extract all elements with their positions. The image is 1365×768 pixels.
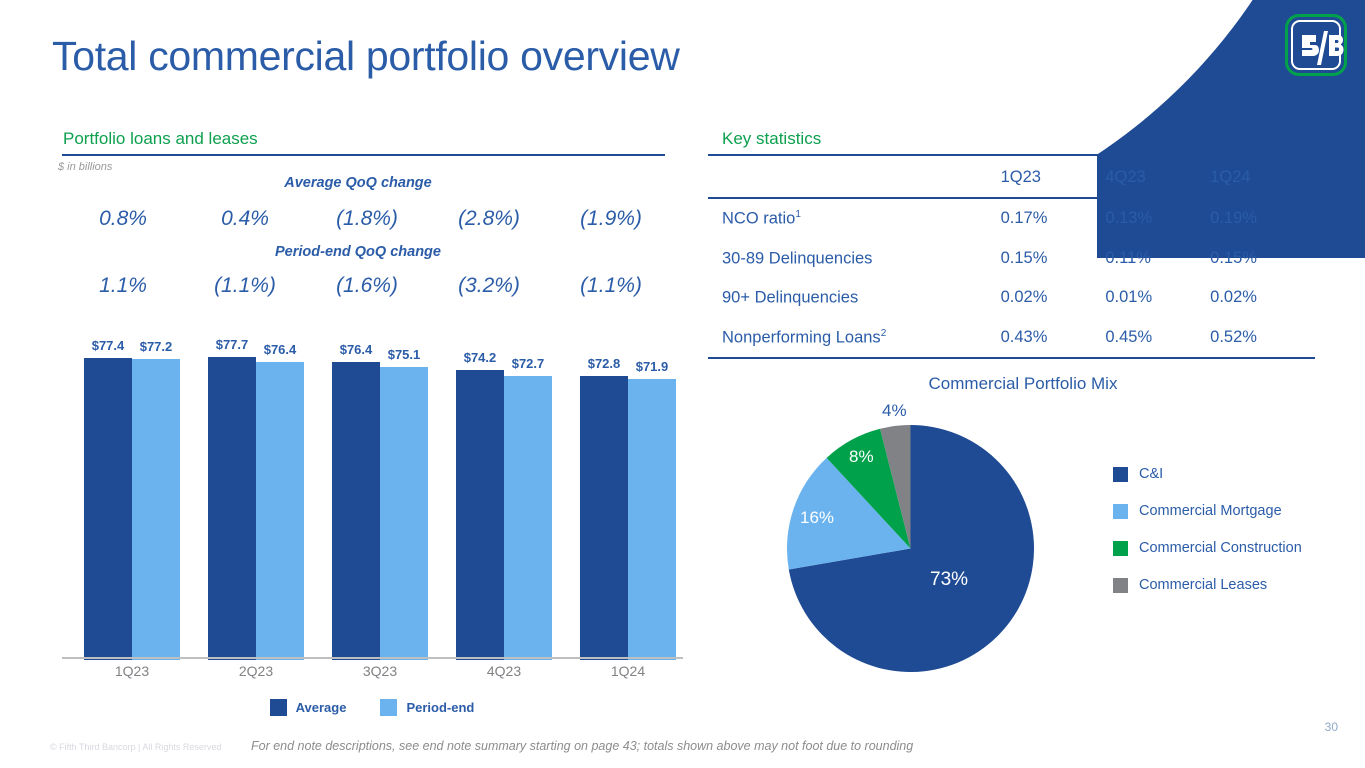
commercial-portfolio-mix-pie: 73% 16% 8% 4% [787,425,1034,672]
metric-value: 0.52% [1210,318,1315,359]
bar-avg[interactable] [580,376,628,660]
column-header-4q23: 4Q23 [1105,158,1210,198]
bar-avg[interactable] [456,370,504,660]
bar-value-label: $72.7 [493,356,563,371]
metric-value: 0.11% [1105,239,1210,279]
pie-label-commercial-mortgage: 16% [800,508,834,528]
bar-group: $74.2$72.7 [456,340,552,660]
pie-chart-title: Commercial Portfolio Mix [708,374,1338,394]
section-divider-left [62,154,665,156]
bar-wrapper: $72.7 [504,340,552,660]
bar-wrapper: $71.9 [628,340,676,660]
logo-mark-icon [1288,17,1350,79]
bar-group: $76.4$75.1 [332,340,428,660]
bar-group: $77.4$77.2 [84,340,180,660]
bar-wrapper: $76.4 [256,340,304,660]
metric-value: 0.19% [1210,198,1315,239]
average-qoq-value: 0.8% [62,207,184,231]
metric-value: 0.02% [1001,278,1106,318]
metric-text: 90+ Delinquencies [722,289,858,307]
x-axis-label: 1Q23 [72,663,192,679]
pie-label-commercial-leases: 4% [882,401,907,421]
column-header-1q23: 1Q23 [1001,158,1106,198]
period-end-qoq-value: (1.6%) [306,274,428,298]
bar-wrapper: $74.2 [456,340,504,660]
metric-value: 0.15% [1210,239,1315,279]
bar-wrapper: $75.1 [380,340,428,660]
metric-value: 0.17% [1001,198,1106,239]
x-axis-label: 3Q23 [320,663,440,679]
bar-group: $77.7$76.4 [208,340,304,660]
page-number: 30 [1325,720,1338,734]
pie-legend-item-commercial-leases: Commercial Leases [1113,577,1302,593]
bar-wrapper: $76.4 [332,340,380,660]
legend-label-average: Average [296,700,347,715]
bar-value-label: $75.1 [369,347,439,362]
average-qoq-value: 0.4% [184,207,306,231]
average-qoq-value: (1.9%) [550,207,672,231]
legend-item-average: Average [270,699,347,716]
average-qoq-row: 0.8% 0.4% (1.8%) (2.8%) (1.9%) [62,207,672,231]
period-end-qoq-value: (1.1%) [184,274,306,298]
bar-pe[interactable] [132,359,180,660]
metric-value: 0.02% [1210,278,1315,318]
pie-label-commercial-construction: 8% [849,447,874,467]
table-header-row: 1Q23 4Q23 1Q24 [708,158,1315,198]
pie-legend-swatch-commercial-construction [1113,541,1128,556]
copyright-notice: © Fifth Third Bancorp | All Rights Reser… [50,742,221,752]
x-axis-label: 2Q23 [196,663,316,679]
section-header-portfolio-loans: Portfolio loans and leases [63,129,258,149]
metric-label: 30-89 Delinquencies [708,239,1001,279]
pie-legend-label-commercial-construction: Commercial Construction [1139,540,1302,556]
endnote-text: For end note descriptions, see end note … [251,739,913,753]
units-note: $ in billions [58,161,112,173]
pie-label-ci: 73% [930,569,968,591]
table-body: NCO ratio1 0.17% 0.13% 0.19% 30-89 Delin… [708,198,1315,358]
pie-svg [787,425,1034,672]
pie-legend-swatch-commercial-leases [1113,578,1128,593]
bar-pe[interactable] [380,367,428,660]
period-end-qoq-value: (3.2%) [428,274,550,298]
metric-label: NCO ratio1 [708,198,1001,239]
bar-value-label: $76.4 [245,342,315,357]
average-qoq-value: (2.8%) [428,207,550,231]
bar-wrapper: $77.2 [132,340,180,660]
bar-chart-legend: Average Period-end [62,699,682,716]
pie-legend-item-commercial-mortgage: Commercial Mortgage [1113,503,1302,519]
legend-swatch-period-end [380,699,397,716]
period-end-qoq-row: 1.1% (1.1%) (1.6%) (3.2%) (1.1%) [62,274,672,298]
footnote-marker: 1 [795,209,801,220]
legend-label-period-end: Period-end [406,700,474,715]
section-header-key-statistics: Key statistics [722,129,821,149]
bar-wrapper: $77.4 [84,340,132,660]
bar-wrapper: $77.7 [208,340,256,660]
column-header-metric [708,158,1001,198]
pie-legend-label-commercial-leases: Commercial Leases [1139,577,1267,593]
bar-wrapper: $72.8 [580,340,628,660]
bar-chart-axis-line [62,657,683,659]
table-row: 30-89 Delinquencies 0.15% 0.11% 0.15% [708,239,1315,279]
bar-pe[interactable] [256,362,304,660]
fifth-third-logo [1285,14,1347,76]
table-head: 1Q23 4Q23 1Q24 [708,158,1315,198]
bar-avg[interactable] [84,358,132,660]
legend-item-period-end: Period-end [380,699,474,716]
page-title: Total commercial portfolio overview [52,33,680,80]
pie-legend-swatch-ci [1113,467,1128,482]
metric-value: 0.01% [1105,278,1210,318]
legend-swatch-average [270,699,287,716]
metric-label: Nonperforming Loans2 [708,318,1001,359]
average-qoq-value: (1.8%) [306,207,428,231]
pie-legend-item-commercial-construction: Commercial Construction [1113,540,1302,556]
pie-legend-label-commercial-mortgage: Commercial Mortgage [1139,503,1282,519]
pie-legend-label-ci: C&I [1139,466,1163,482]
bar-group: $72.8$71.9 [580,340,676,660]
metric-text: Nonperforming Loans [722,328,881,346]
pie-chart-legend: C&I Commercial Mortgage Commercial Const… [1113,466,1302,593]
metric-text: 30-89 Delinquencies [722,249,872,267]
section-divider-right [708,154,1315,156]
bar-pe[interactable] [504,376,552,660]
bar-pe[interactable] [628,379,676,660]
footnote-marker: 2 [881,328,887,339]
table-row: NCO ratio1 0.17% 0.13% 0.19% [708,198,1315,239]
portfolio-bar-chart: $77.4$77.2$77.7$76.4$76.4$75.1$74.2$72.7… [62,340,682,660]
table-row: 90+ Delinquencies 0.02% 0.01% 0.02% [708,278,1315,318]
bar-avg[interactable] [208,357,256,660]
period-end-qoq-value: 1.1% [62,274,184,298]
period-end-qoq-value: (1.1%) [550,274,672,298]
metric-value: 0.43% [1001,318,1106,359]
table-row: Nonperforming Loans2 0.43% 0.45% 0.52% [708,318,1315,359]
metric-text: NCO ratio [722,210,795,228]
pie-legend-swatch-commercial-mortgage [1113,504,1128,519]
pie-legend-item-ci: C&I [1113,466,1302,482]
bar-value-label: $77.2 [121,339,191,354]
x-axis-label: 1Q24 [568,663,688,679]
metric-value: 0.15% [1001,239,1106,279]
metric-label: 90+ Delinquencies [708,278,1001,318]
average-qoq-title: Average QoQ change [48,175,668,191]
metric-value: 0.45% [1105,318,1210,359]
column-header-1q24: 1Q24 [1210,158,1315,198]
metric-value: 0.13% [1105,198,1210,239]
bar-avg[interactable] [332,362,380,660]
bar-value-label: $71.9 [617,359,687,374]
x-axis-label: 4Q23 [444,663,564,679]
period-end-qoq-title: Period-end QoQ change [48,244,668,260]
key-statistics-table: 1Q23 4Q23 1Q24 NCO ratio1 0.17% 0.13% 0.… [708,158,1315,359]
